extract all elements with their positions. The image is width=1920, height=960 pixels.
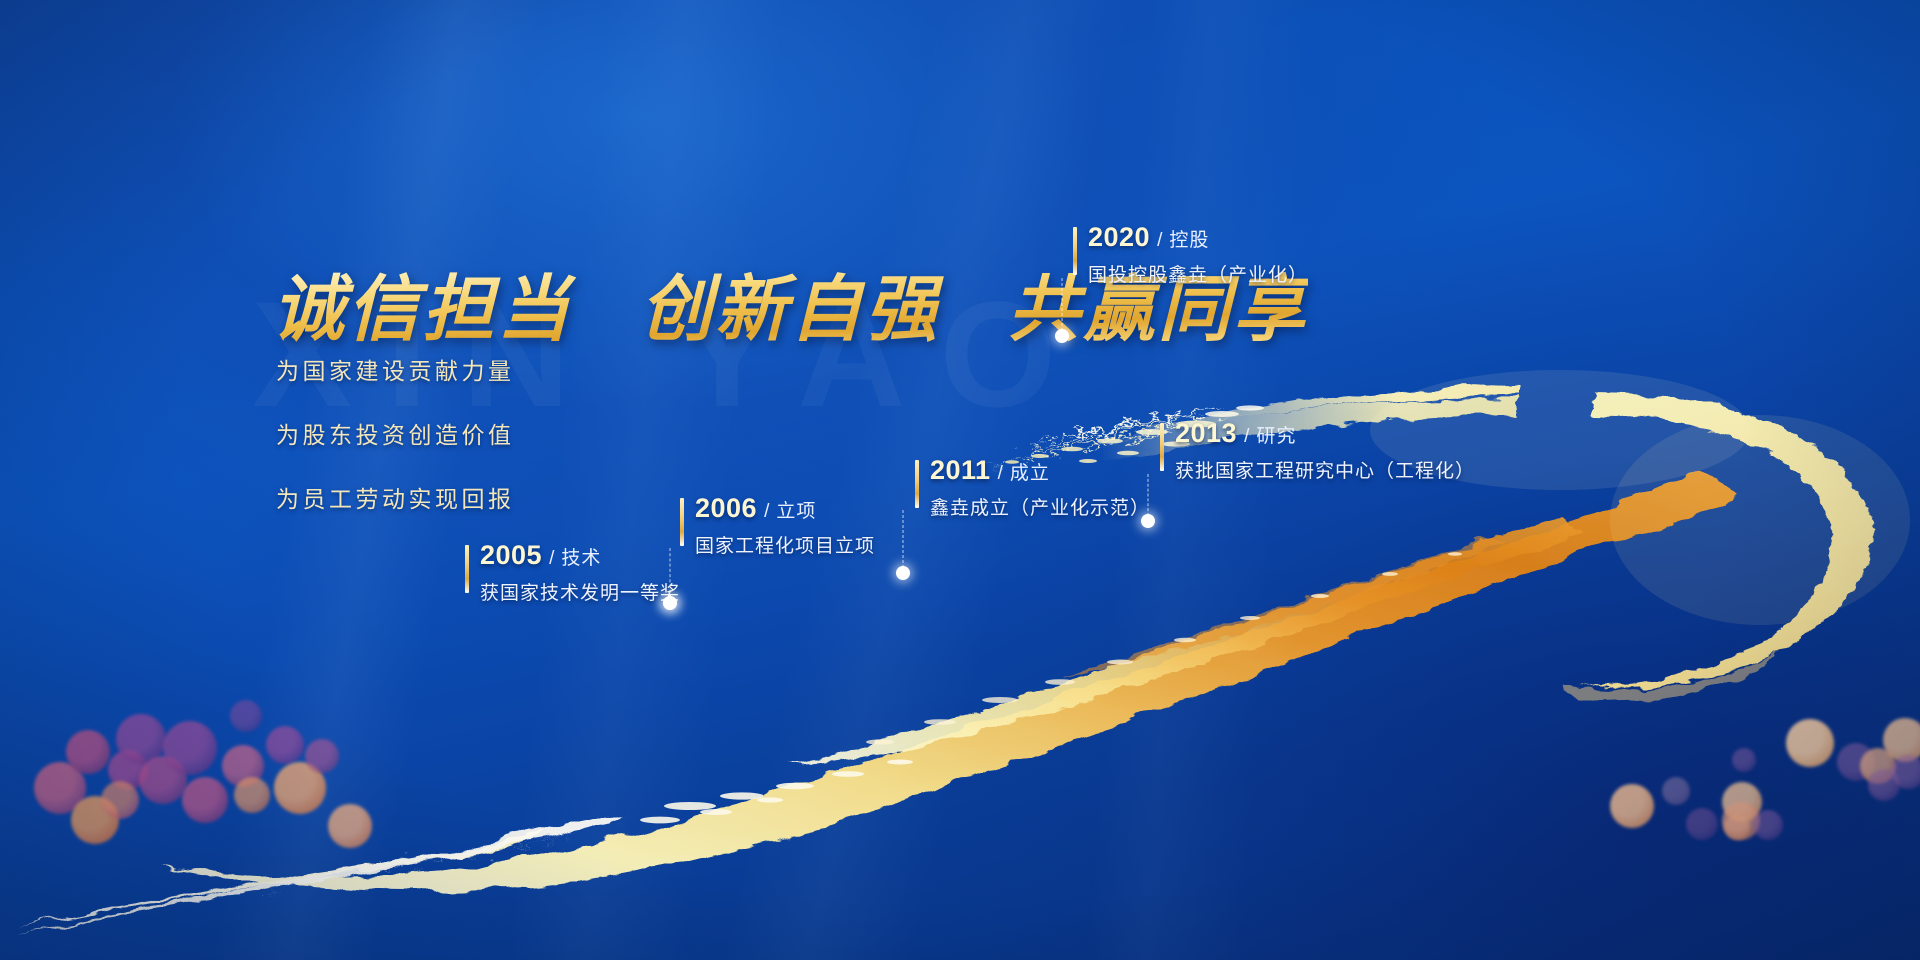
timeline-event-heading: 2011/成立 <box>930 457 1150 484</box>
mission-line-2: 为股东投资创造价值 <box>276 416 515 450</box>
timeline-marker-dot[interactable] <box>1055 329 1069 343</box>
bokeh-light <box>66 730 110 774</box>
bokeh-light <box>230 700 262 732</box>
bokeh-light <box>1753 810 1783 840</box>
timeline-leader-line <box>1148 474 1149 516</box>
bokeh-light <box>328 804 372 848</box>
timeline-event-heading: 2006/立项 <box>695 495 875 522</box>
bokeh-light <box>1786 719 1834 767</box>
timeline-leader-line <box>903 510 904 568</box>
headline-part-2: 创新自强 <box>640 270 940 350</box>
timeline-event-description: 获国家技术发明一等奖 <box>480 578 680 605</box>
timeline-event-description: 获批国家工程研究中心（工程化） <box>1175 456 1475 483</box>
timeline-marker-dot[interactable] <box>663 596 677 610</box>
bokeh-light <box>1732 748 1756 772</box>
timeline-leader-line <box>1062 278 1063 336</box>
timeline-leader-line <box>670 548 671 598</box>
timeline-event-2006[interactable]: 2006/立项国家工程化项目立项 <box>680 495 875 558</box>
timeline-event-year: 2006 <box>695 493 757 523</box>
timeline-event-year: 2020 <box>1088 222 1150 252</box>
banner-stage: XIN YAO 诚信担当 创新自强 共赢同享 为国家建设贡献力量 为股东投资创造… <box>0 0 1920 960</box>
timeline-event-separator: / <box>549 548 554 569</box>
mission-line-1: 为国家建设贡献力量 <box>276 352 515 386</box>
mission-statement-list: 为国家建设贡献力量 为股东投资创造价值 为员工劳动实现回报 <box>276 352 515 544</box>
timeline-event-2020[interactable]: 2020/控股国投控股鑫垚（产业化） <box>1073 224 1308 287</box>
bokeh-light <box>1686 808 1718 840</box>
timeline-event-2005[interactable]: 2005/技术获国家技术发明一等奖 <box>465 542 680 605</box>
bokeh-light <box>182 777 228 823</box>
timeline-event-2013[interactable]: 2013/研究获批国家工程研究中心（工程化） <box>1160 420 1475 483</box>
timeline-event-year: 2011 <box>930 455 991 485</box>
timeline-event-tag: 成立 <box>1010 463 1050 484</box>
bokeh-light <box>1891 755 1920 789</box>
timeline-event-separator: / <box>1244 426 1249 447</box>
timeline-event-separator: / <box>764 501 769 522</box>
timeline-event-separator: / <box>1157 230 1162 251</box>
timeline-event-2011[interactable]: 2011/成立鑫垚成立（产业化示范） <box>915 457 1150 520</box>
timeline-event-separator: / <box>998 463 1003 484</box>
timeline-event-tag: 控股 <box>1169 230 1209 251</box>
timeline-marker-dot[interactable] <box>896 566 910 580</box>
timeline-event-tag: 研究 <box>1256 426 1296 447</box>
bokeh-light <box>266 726 304 764</box>
bokeh-light <box>163 721 217 775</box>
timeline-marker-dot[interactable] <box>1141 514 1155 528</box>
timeline-event-description: 鑫垚成立（产业化示范） <box>930 493 1150 520</box>
timeline-event-heading: 2005/技术 <box>480 542 680 569</box>
timeline-event-year: 2013 <box>1175 418 1237 448</box>
bokeh-light <box>101 781 139 819</box>
timeline-event-heading: 2013/研究 <box>1175 420 1475 447</box>
bokeh-light <box>234 777 270 813</box>
bokeh-light <box>1610 784 1654 828</box>
timeline-event-year: 2005 <box>480 540 542 570</box>
headline-part-1: 诚信担当 <box>272 270 572 350</box>
timeline-event-heading: 2020/控股 <box>1088 224 1308 251</box>
mission-line-3: 为员工劳动实现回报 <box>276 480 515 514</box>
timeline-event-description: 国投控股鑫垚（产业化） <box>1088 260 1308 287</box>
bokeh-light <box>1662 777 1690 805</box>
bokeh-light <box>305 739 339 773</box>
timeline-event-tag: 立项 <box>776 501 816 522</box>
timeline-event-description: 国家工程化项目立项 <box>695 531 875 558</box>
timeline-event-tag: 技术 <box>561 548 601 569</box>
